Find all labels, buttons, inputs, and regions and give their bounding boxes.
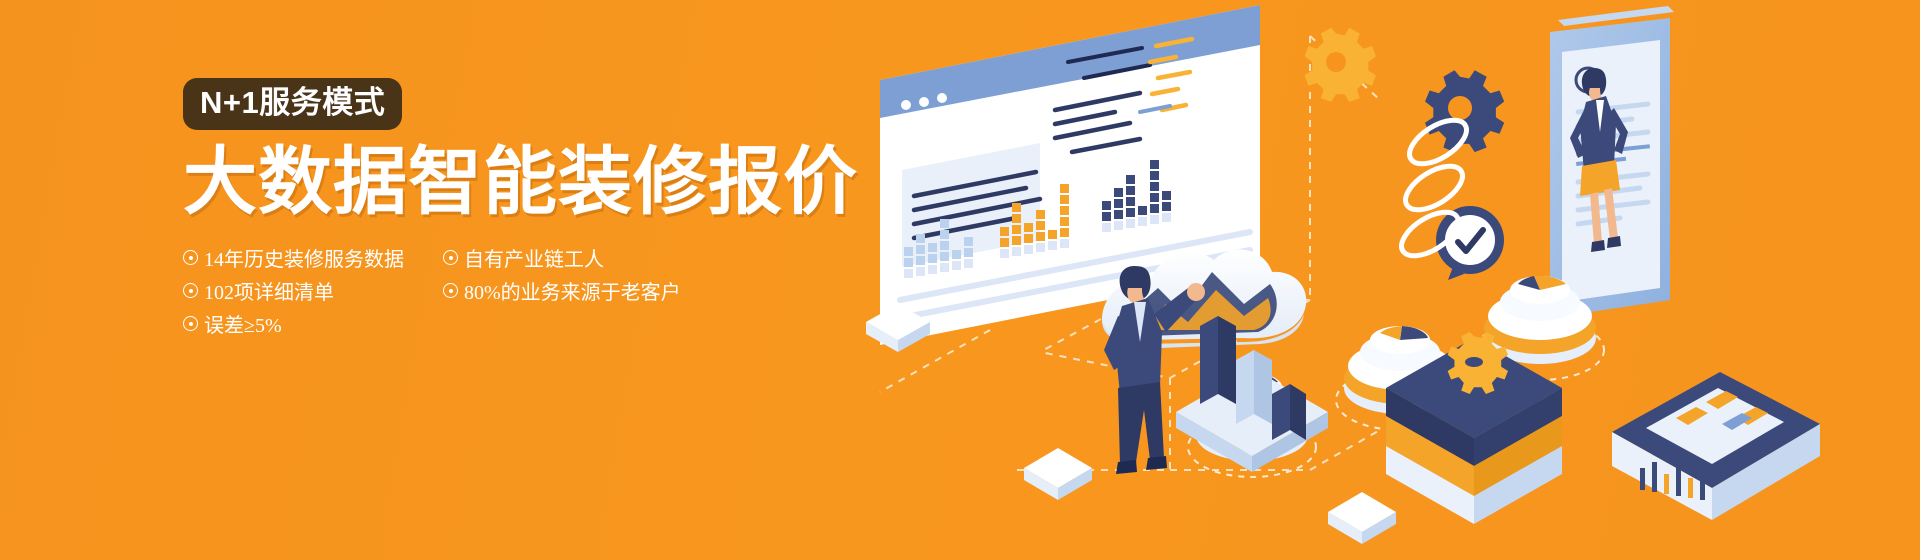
promo-banner: N+1服务模式 大数据智能装修报价 14年历史装修服务数据 自有产业链工人 10… bbox=[0, 0, 1920, 560]
list-item: 14年历史装修服务数据 bbox=[183, 243, 435, 272]
circle-dot-icon bbox=[183, 250, 198, 265]
feature-label: 102项详细清单 bbox=[204, 276, 334, 305]
circle-dot-icon bbox=[443, 250, 458, 265]
feature-label: 80%的业务来源于老客户 bbox=[464, 276, 681, 305]
feature-label: 14年历史装修服务数据 bbox=[204, 243, 404, 272]
tile-icon bbox=[1024, 448, 1092, 500]
feature-label: 自有产业链工人 bbox=[464, 243, 604, 272]
isometric-illustration bbox=[840, 0, 1920, 560]
copy-block: N+1服务模式 大数据智能装修报价 14年历史装修服务数据 自有产业链工人 10… bbox=[183, 78, 823, 340]
database-icon bbox=[1612, 372, 1820, 520]
feature-label: 误差≥5% bbox=[204, 309, 282, 338]
service-mode-badge: N+1服务模式 bbox=[183, 78, 402, 130]
list-item: 80%的业务来源于老客户 bbox=[443, 276, 703, 305]
list-item: 自有产业链工人 bbox=[443, 243, 703, 272]
feature-list: 14年历史装修服务数据 自有产业链工人 102项详细清单 80%的业务来源于老客… bbox=[183, 241, 823, 340]
circle-dot-icon bbox=[443, 283, 458, 298]
circle-dot-icon bbox=[183, 283, 198, 298]
gear-icon bbox=[1305, 28, 1376, 102]
list-item: 误差≥5% bbox=[183, 309, 435, 338]
bar-chart-icon bbox=[1176, 316, 1328, 472]
list-item: 102项详细清单 bbox=[183, 276, 435, 305]
tile-icon bbox=[1328, 492, 1396, 544]
circle-dot-icon bbox=[183, 316, 198, 331]
page-title: 大数据智能装修报价 bbox=[183, 144, 823, 219]
